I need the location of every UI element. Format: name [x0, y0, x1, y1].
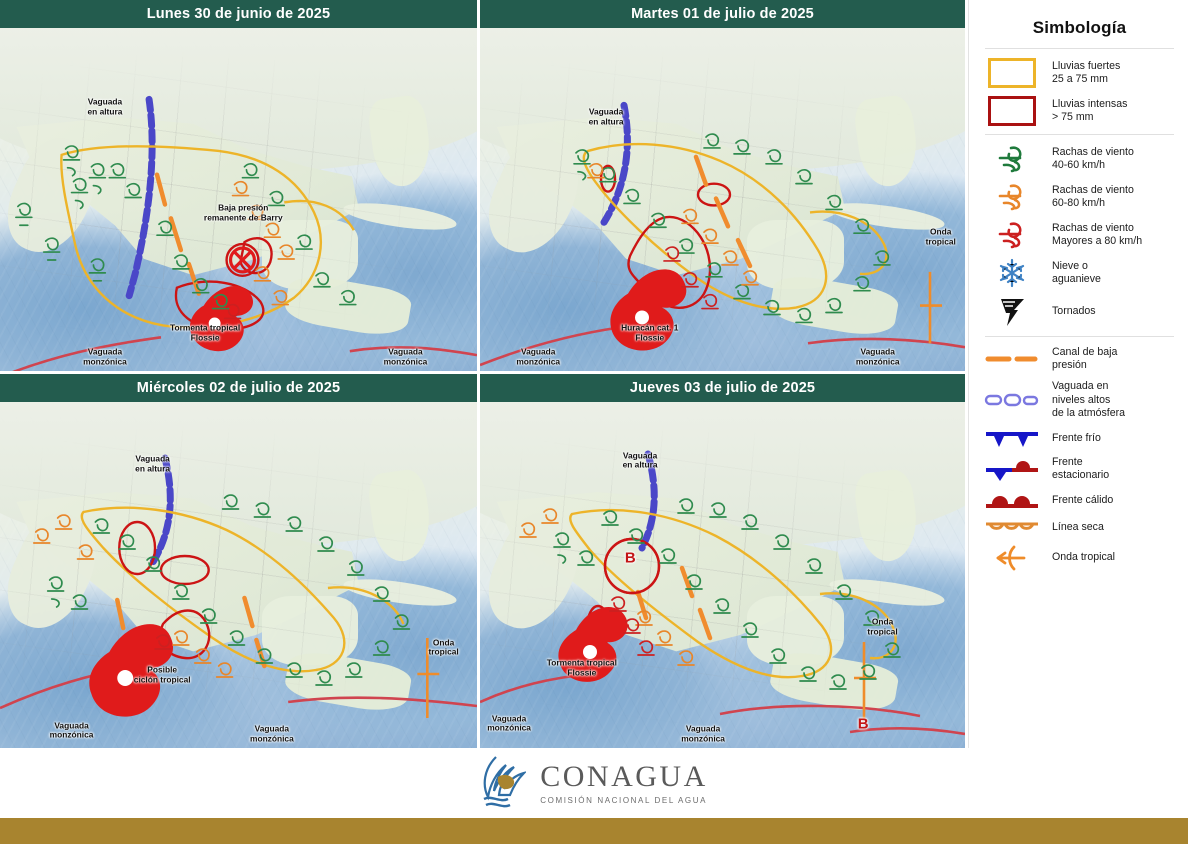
stationary-front-icon: [981, 457, 1043, 481]
monsoon-trough-line: [480, 327, 965, 365]
legend-label: Lluvias intensas > 75 mm: [1052, 98, 1127, 124]
panel-martes-map[interactable]: Vaguada en altura Huracán cat. 1 Flossie…: [480, 28, 965, 374]
hurricane-symbol-flossie: [610, 269, 686, 350]
panel-jueves-overlays: [480, 402, 965, 748]
legend-label: Lluvias fuertes 25 a 75 mm: [1052, 60, 1120, 86]
legend-label: Tornados: [1052, 305, 1096, 318]
legend-item-canal-baja-presion[interactable]: Canal de baja presión: [981, 346, 1178, 372]
wind-gust-orange-icon: [981, 182, 1043, 212]
panel-miercoles: Miércoles 02 de julio de 2025: [0, 374, 480, 748]
cold-front-icon: [981, 428, 1043, 448]
legend-item-onda-tropical[interactable]: Onda tropical: [981, 545, 1178, 571]
legend-item-linea-seca[interactable]: Línea seca: [981, 519, 1178, 537]
rain-box-yellow-icon: [981, 58, 1043, 88]
panel-lunes: Lunes 30 de junio de 2025: [0, 0, 480, 374]
panel-martes: Martes 01 de julio de 2025: [480, 0, 965, 374]
monsoon-trough-line: [480, 674, 965, 734]
footer-branding: CONAGUA COMISIÓN NACIONAL DEL AGUA: [0, 748, 1188, 818]
tropical-storm-symbol-flossie: [558, 607, 627, 682]
possible-cyclone-symbol: [89, 624, 173, 716]
legend-item-frente-estacionario[interactable]: Frente estacionario: [981, 456, 1178, 482]
dry-line-icon: [981, 519, 1043, 537]
legend-label: Frente estacionario: [1052, 456, 1109, 482]
panel-jueves-map[interactable]: Vaguada en altura B Tormenta tropical Fl…: [480, 402, 965, 748]
legend-item-lluvias-intensas[interactable]: Lluvias intensas > 75 mm: [981, 96, 1178, 126]
upper-level-trough-icon: [981, 392, 1043, 408]
legend-panel: Simbología Lluvias fuertes 25 a 75 mm Ll…: [968, 0, 1188, 748]
forecast-panels-grid: Lunes 30 de junio de 2025: [0, 0, 965, 748]
wind-gust-red-icon: [981, 220, 1043, 250]
legend-item-lluvias-fuertes[interactable]: Lluvias fuertes 25 a 75 mm: [981, 58, 1178, 88]
tropical-wave-line: [920, 272, 942, 343]
legend-label: Canal de baja presión: [1052, 346, 1117, 372]
legend-label: Onda tropical: [1052, 551, 1115, 564]
rain-box-red-icon: [981, 96, 1043, 126]
legend-label: Rachas de viento Mayores a 80 km/h: [1052, 222, 1142, 248]
legend-item-frente-calido[interactable]: Frente cálido: [981, 491, 1178, 511]
rain-heavy-contour: [61, 146, 353, 327]
legend-divider-wind-systems: [985, 336, 1174, 337]
conagua-wordmark: CONAGUA COMISIÓN NACIONAL DEL AGUA: [540, 762, 708, 805]
legend-item-frente-frio[interactable]: Frente frío: [981, 428, 1178, 448]
legend-label: Frente frío: [1052, 432, 1101, 445]
panel-miercoles-map[interactable]: Vaguada en altura Posible ciclón tropica…: [0, 402, 480, 748]
legend-title: Simbología: [981, 18, 1178, 38]
conagua-brand: CONAGUA: [540, 762, 708, 792]
conagua-logo-icon: [480, 755, 526, 811]
legend-item-rachas-80-mas[interactable]: Rachas de viento Mayores a 80 km/h: [981, 220, 1178, 250]
panel-miercoles-title: Miércoles 02 de julio de 2025: [0, 374, 480, 402]
wind-gust-green-markers: [574, 134, 890, 322]
bottom-gold-bar: [0, 818, 1188, 844]
legend-label: Frente cálido: [1052, 494, 1113, 507]
conagua-subtitle: COMISIÓN NACIONAL DEL AGUA: [540, 796, 708, 805]
legend-label: Nieve o aguanieve: [1052, 260, 1101, 286]
low-pressure-marker-circle: [605, 539, 659, 593]
snowflake-icon: [981, 258, 1043, 288]
wind-gust-green-icon: [981, 144, 1043, 174]
legend-label: Línea seca: [1052, 521, 1104, 534]
panel-miercoles-overlays: [0, 402, 477, 748]
panel-lunes-map[interactable]: Vaguada en altura Baja presión remanente…: [0, 28, 480, 374]
legend-item-vaguada-niveles-altos[interactable]: Vaguada en niveles altos de la atmósfera: [981, 380, 1178, 420]
legend-item-tornados[interactable]: Tornados: [981, 296, 1178, 328]
rain-heavy-contour: [570, 510, 895, 677]
panel-jueves: Jueves 03 de julio de 2025: [480, 374, 965, 748]
panel-lunes-overlays: [0, 28, 477, 371]
tropical-wave-line: [417, 638, 439, 718]
legend-label: Rachas de viento 40-60 km/h: [1052, 146, 1134, 172]
legend-label: Vaguada en niveles altos de la atmósfera: [1052, 380, 1125, 420]
legend-item-rachas-60-80[interactable]: Rachas de viento 60-80 km/h: [981, 182, 1178, 212]
upper-trough-line: [642, 454, 654, 548]
legend-item-nieve[interactable]: Nieve o aguanieve: [981, 258, 1178, 288]
legend-divider-rain-wind: [985, 134, 1174, 135]
rain-heavy-contour: [584, 144, 887, 309]
panel-martes-title: Martes 01 de julio de 2025: [480, 0, 965, 28]
tropical-wave-icon: [981, 545, 1043, 571]
low-pressure-channel-icon: [981, 352, 1043, 366]
legend-divider-top: [985, 48, 1174, 49]
panel-martes-overlays: [480, 28, 965, 371]
panel-lunes-title: Lunes 30 de junio de 2025: [0, 0, 480, 28]
wind-gust-green-markers: [48, 495, 410, 685]
tropical-wave-line: [854, 642, 876, 724]
tornado-icon: [981, 296, 1043, 328]
panel-jueves-title: Jueves 03 de julio de 2025: [480, 374, 965, 402]
forecast-infographic: Lunes 30 de junio de 2025: [0, 0, 1188, 844]
legend-label: Rachas de viento 60-80 km/h: [1052, 184, 1134, 210]
monsoon-trough-line: [0, 666, 477, 708]
warm-front-icon: [981, 491, 1043, 511]
legend-item-rachas-40-60[interactable]: Rachas de viento 40-60 km/h: [981, 144, 1178, 174]
